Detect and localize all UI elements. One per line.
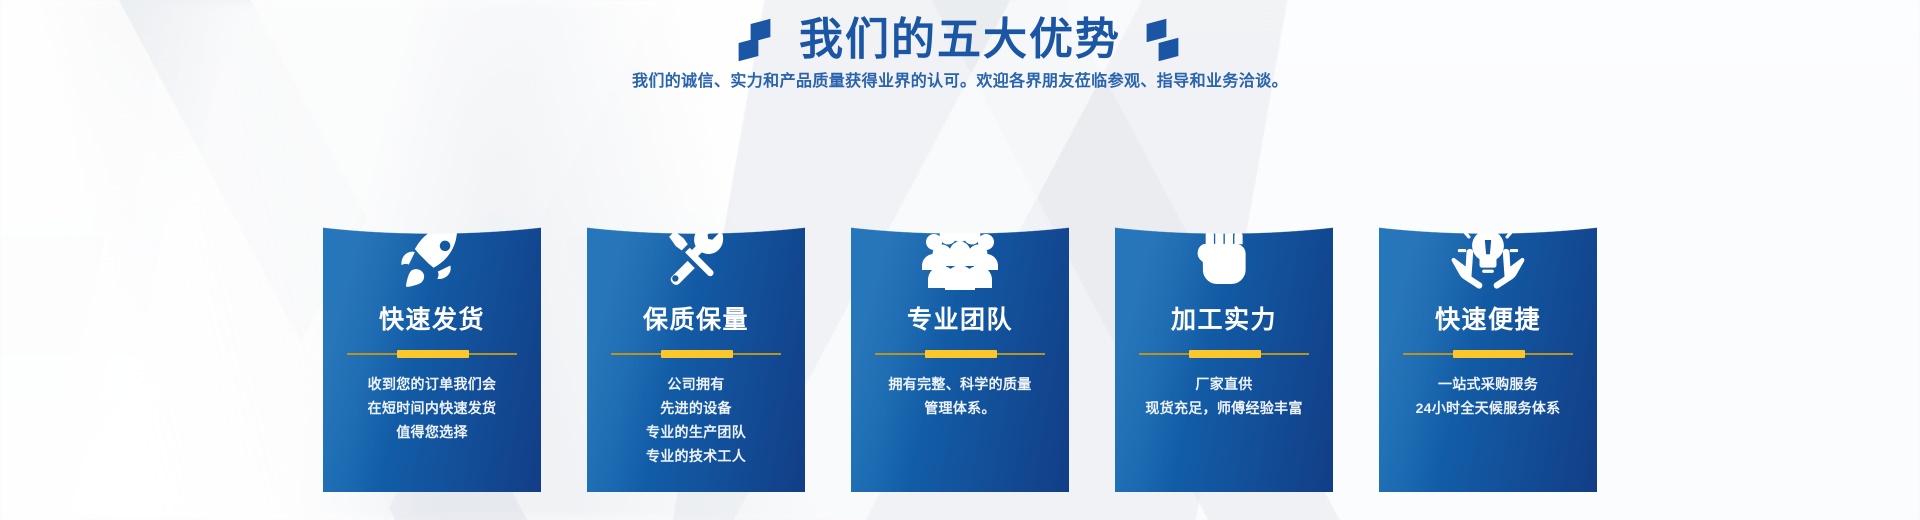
advantage-card-list: 快速发货 收到您的订单我们会 在短时间内快速发货 值得您选择 保质保量 — [0, 170, 1920, 492]
hands-lightbulb-icon — [1449, 222, 1527, 294]
card-desc-line: 专业的生产团队 — [596, 420, 796, 444]
gold-divider — [1139, 350, 1309, 358]
card-desc-line: 管理体系。 — [860, 396, 1060, 420]
card-desc-line: 拥有完整、科学的质量 — [860, 372, 1060, 396]
card-title: 专业团队 — [907, 304, 1013, 336]
gold-divider — [1403, 350, 1573, 358]
card-desc-line: 收到您的订单我们会 — [332, 372, 532, 396]
rocket-icon — [395, 222, 469, 294]
fist-icon — [1191, 222, 1257, 294]
card-desc-line: 公司拥有 — [596, 372, 796, 396]
card-desc-line: 厂家直供 — [1124, 372, 1324, 396]
card-description: 一站式采购服务 24小时全天候服务体系 — [1388, 372, 1588, 420]
wrench-screwdriver-icon — [661, 222, 731, 294]
card-desc-line: 24小时全天候服务体系 — [1388, 396, 1588, 420]
title-row: 我们的五大优势 — [0, 0, 1920, 62]
section-header: 我们的五大优势 我们的诚信、实力和产品质量获得业界的认可。欢迎各界朋友莅临参观、… — [0, 0, 1920, 93]
gold-divider — [611, 350, 781, 358]
slash-marks-icon — [739, 20, 773, 60]
card-title: 加工实力 — [1171, 304, 1277, 336]
advantage-card[interactable]: 加工实力 厂家直供 现货充足，师傅经验丰富 — [1115, 170, 1333, 492]
advantage-card[interactable]: 快速便捷 一站式采购服务 24小时全天候服务体系 — [1379, 170, 1597, 492]
gold-divider — [347, 350, 517, 358]
slash-marks-icon — [1147, 20, 1181, 60]
card-title: 保质保量 — [643, 304, 749, 336]
advantage-card[interactable]: 保质保量 公司拥有 先进的设备 专业的生产团队 专业的技术工人 — [587, 170, 805, 492]
card-desc-line: 现货充足，师傅经验丰富 — [1124, 396, 1324, 420]
card-title: 快速便捷 — [1435, 304, 1541, 336]
card-description: 厂家直供 现货充足，师傅经验丰富 — [1124, 372, 1324, 420]
card-desc-line: 一站式采购服务 — [1388, 372, 1588, 396]
advantage-card[interactable]: 专业团队 拥有完整、科学的质量 管理体系。 — [851, 170, 1069, 492]
card-description: 拥有完整、科学的质量 管理体系。 — [860, 372, 1060, 420]
page-title: 我们的五大优势 — [799, 15, 1121, 65]
card-desc-line: 值得您选择 — [332, 420, 532, 444]
card-desc-line: 先进的设备 — [596, 396, 796, 420]
card-description: 公司拥有 先进的设备 专业的生产团队 专业的技术工人 — [596, 372, 796, 468]
card-title: 快速发货 — [379, 304, 485, 336]
gold-divider — [875, 350, 1045, 358]
team-people-icon — [920, 222, 1000, 294]
card-desc-line: 在短时间内快速发货 — [332, 396, 532, 420]
advantage-card[interactable]: 快速发货 收到您的订单我们会 在短时间内快速发货 值得您选择 — [323, 170, 541, 492]
page-subtitle: 我们的诚信、实力和产品质量获得业界的认可。欢迎各界朋友莅临参观、指导和业务洽谈。 — [0, 71, 1920, 93]
card-desc-line: 专业的技术工人 — [596, 444, 796, 468]
card-description: 收到您的订单我们会 在短时间内快速发货 值得您选择 — [332, 372, 532, 444]
